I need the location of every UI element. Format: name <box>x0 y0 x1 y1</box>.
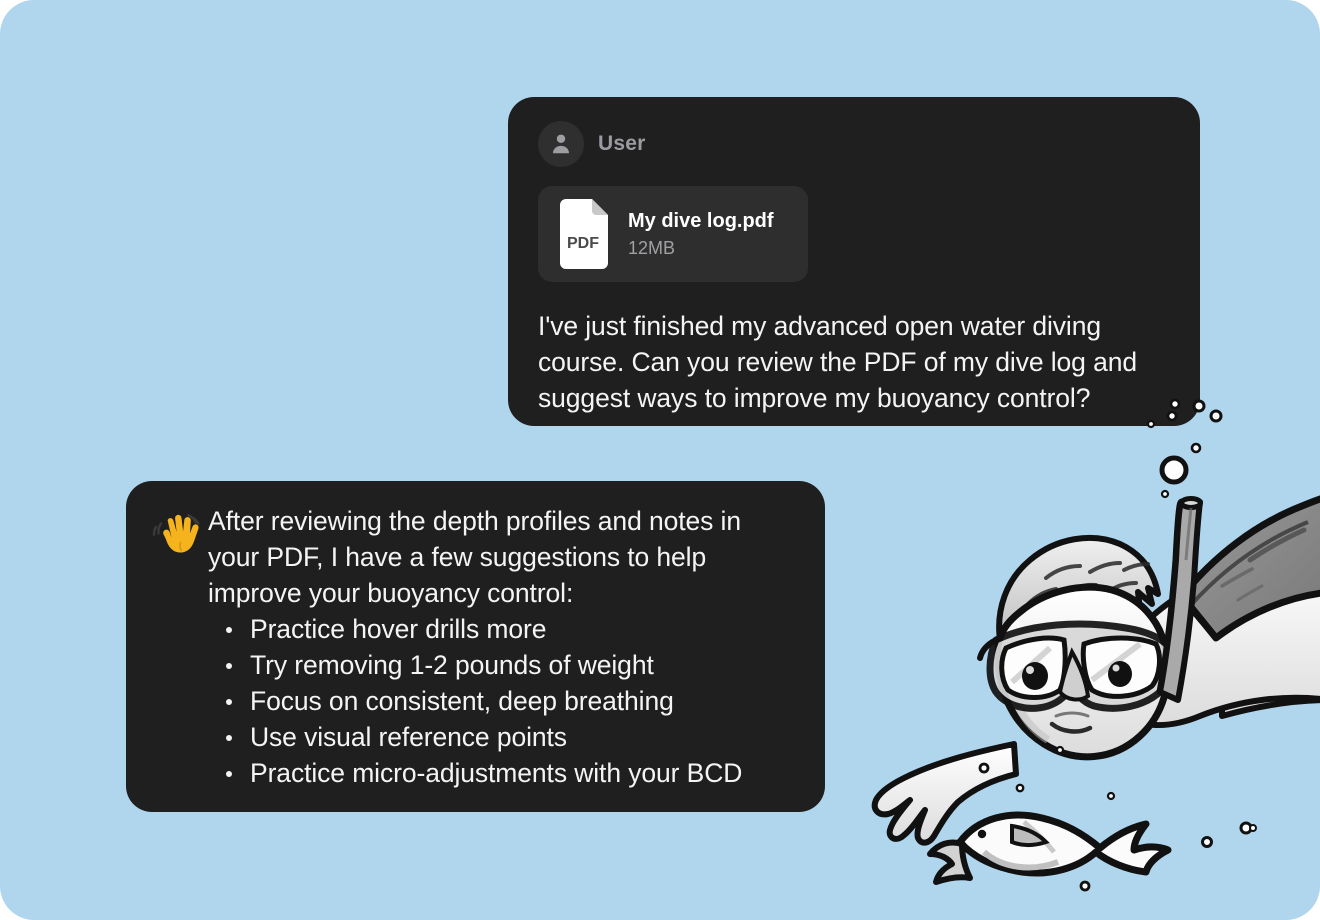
assistant-message-body: After reviewing the depth profiles and n… <box>150 503 799 791</box>
user-message-header: User <box>538 121 1172 167</box>
assistant-message-bubble: After reviewing the depth profiles and n… <box>126 481 825 812</box>
person-avatar-icon <box>548 131 574 157</box>
waving-hand-emoji <box>150 511 208 555</box>
list-item: Focus on consistent, deep breathing <box>208 683 799 719</box>
list-item: Practice micro-adjustments with your BCD <box>208 755 799 791</box>
user-message-bubble: User PDF My dive log.pdf 12MB I've just … <box>508 97 1200 426</box>
avatar <box>538 121 584 167</box>
chat-conversation: User PDF My dive log.pdf 12MB I've just … <box>0 0 1320 920</box>
list-item: Use visual reference points <box>208 719 799 755</box>
message-author: User <box>598 132 646 156</box>
pdf-icon-label: PDF <box>567 235 599 252</box>
screenshot-canvas: User PDF My dive log.pdf 12MB I've just … <box>0 0 1320 920</box>
assistant-text-column: After reviewing the depth profiles and n… <box>208 503 799 791</box>
attachment-filename: My dive log.pdf <box>628 210 774 233</box>
list-item: Practice hover drills more <box>208 611 799 647</box>
user-message-text: I've just finished my advanced open wate… <box>538 308 1172 416</box>
pdf-file-icon: PDF <box>556 199 612 269</box>
attachment-card[interactable]: PDF My dive log.pdf 12MB <box>538 186 808 282</box>
list-item: Try removing 1-2 pounds of weight <box>208 647 799 683</box>
attachment-meta: My dive log.pdf 12MB <box>628 210 774 259</box>
assistant-intro-text: After reviewing the depth profiles and n… <box>208 503 799 611</box>
attachment-filesize: 12MB <box>628 238 774 259</box>
suggestions-list: Practice hover drills more Try removing … <box>208 611 799 791</box>
